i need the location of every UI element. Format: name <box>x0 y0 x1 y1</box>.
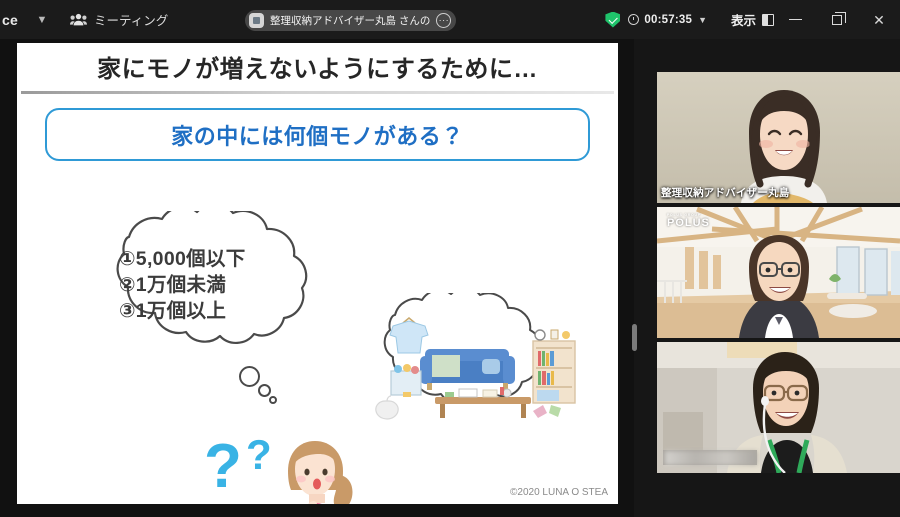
titlebar-right-group: 00:57:35 ▼ 表示 ✕ <box>605 0 900 39</box>
thought-bubble-dot-large <box>239 366 260 387</box>
participant-strip: 整理収納アドバイザー丸島 <box>643 39 900 517</box>
more-options-icon[interactable]: ··· <box>436 13 451 28</box>
close-button[interactable]: ✕ <box>858 0 900 39</box>
clock-icon <box>628 14 639 25</box>
app-name-label: ce <box>2 12 18 28</box>
thinking-girl-illustration <box>270 431 362 504</box>
bookshelf-illustration <box>533 330 575 403</box>
thought-bubble-dot-small <box>258 384 271 397</box>
question-box: 家の中には何個モノがある？ <box>45 108 590 161</box>
meeting-timer-value: 00:57:35 <box>644 14 692 26</box>
participant-name-label: 整理収納アドバイザー丸島 <box>661 185 789 200</box>
svg-text:?: ? <box>204 432 242 501</box>
participant-video <box>657 72 900 203</box>
room-items-cloud <box>337 293 595 433</box>
svg-text:?: ? <box>246 431 272 478</box>
question-box-text: 家の中には何個モノがある？ <box>171 119 464 151</box>
shield-check-icon[interactable] <box>605 12 620 28</box>
option-item-3: ③1万個以上 <box>119 299 359 325</box>
meeting-window: ce ▼ ミーティング 整理収納アドバイザー丸島 さんの <box>0 0 900 517</box>
screen-share-thumb-icon <box>249 13 264 28</box>
option-list: ①5,000個以下 ②1万個未満 ③1万個以上 <box>119 247 359 325</box>
sharing-status-pill[interactable]: 整理収納アドバイザー丸島 さんの ··· <box>245 10 456 31</box>
sharing-title-label: 整理収納アドバイザー丸島 さんの <box>270 13 430 28</box>
cloud-shape-icon <box>337 293 595 433</box>
people-group-icon <box>70 13 87 26</box>
thought-cloud-options: ①5,000個以下 ②1万個未満 ③1万個以上 <box>57 211 373 366</box>
slide-title: 家にモノが増えないようにするために… <box>17 49 618 84</box>
meeting-tab-label: ミーティング <box>94 10 168 29</box>
window-titlebar: ce ▼ ミーティング 整理収納アドバイザー丸島 さんの <box>0 0 900 39</box>
participant-tile-active-speaker[interactable] <box>657 342 900 473</box>
participant-tile[interactable]: 整理収納アドバイザー丸島 <box>657 72 900 203</box>
view-button[interactable]: 表示 <box>731 10 774 29</box>
view-button-label: 表示 <box>731 10 756 29</box>
close-icon: ✕ <box>873 13 885 27</box>
blurred-name-overlay <box>665 451 757 465</box>
shared-content-stage: 家にモノが増えないようにするために… 家の中には何個モノがある？ ①5,000個… <box>0 39 634 517</box>
toy-box-illustration <box>391 364 421 397</box>
background-logo: POLUS GROUP POLUS <box>667 213 710 229</box>
minimize-button[interactable] <box>774 0 816 39</box>
option-item-1: ①5,000個以下 <box>119 247 359 273</box>
meeting-timer[interactable]: 00:57:35 ▼ <box>628 14 707 26</box>
slide-copyright: ©2020 LUNA O STEA <box>510 487 608 498</box>
restore-button[interactable] <box>816 0 858 39</box>
background-logo-text: POLUS <box>667 217 710 229</box>
chevron-down-icon[interactable]: ▼ <box>698 15 707 25</box>
meeting-tab[interactable]: ミーティング <box>70 10 168 29</box>
participant-tile[interactable]: POLUS GROUP POLUS <box>657 207 900 338</box>
layout-view-icon <box>762 14 774 26</box>
chevron-down-icon[interactable]: ▼ <box>34 14 50 26</box>
background-logo-sub: POLUS GROUP <box>667 213 710 217</box>
cushion-illustration <box>376 396 398 419</box>
minimize-icon <box>789 19 802 21</box>
title-divider <box>21 91 614 94</box>
titlebar-left-group: ce ▼ ミーティング <box>0 0 168 39</box>
option-item-2: ②1万個未満 <box>119 273 359 299</box>
thought-bubble-dot-tiny <box>269 396 277 404</box>
scattered-items-illustration <box>533 405 561 418</box>
panel-resize-handle[interactable] <box>632 324 637 351</box>
restore-window-icon <box>832 15 842 25</box>
presentation-slide[interactable]: 家にモノが増えないようにするために… 家の中には何個モノがある？ ①5,000個… <box>17 43 618 504</box>
